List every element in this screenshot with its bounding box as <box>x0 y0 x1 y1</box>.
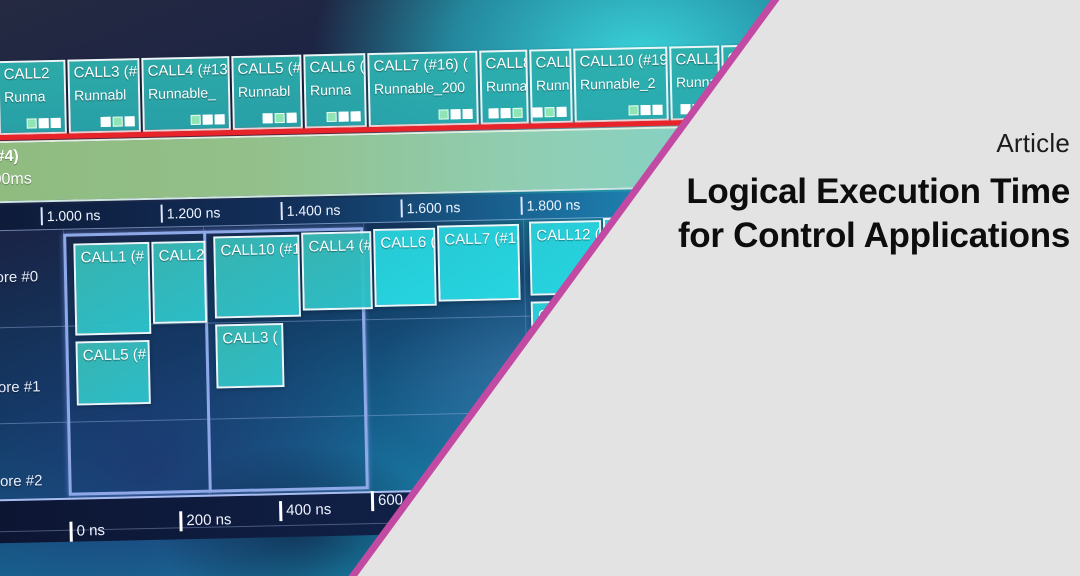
gantt-task-block[interactable]: CALL3 ( <box>215 323 284 388</box>
gantt-task-label: CALL5 (# <box>78 342 148 365</box>
indicator-square <box>101 117 111 127</box>
indicator-square <box>512 108 522 118</box>
indicator-square <box>532 107 542 117</box>
time-tick-label: 400 ns <box>279 500 331 521</box>
indicator-square <box>500 108 510 118</box>
indicator-square <box>51 118 61 128</box>
runnable-chip-indicators <box>191 114 225 125</box>
indicator-square <box>287 113 297 123</box>
indicator-square <box>125 116 135 126</box>
runnable-chip-indicators <box>27 118 61 129</box>
gantt-task-label: CALL10 (#1 <box>215 237 297 260</box>
time-tick-label: 600 ns <box>371 490 423 511</box>
runnable-chip-subtitle: Runnabl <box>234 77 300 100</box>
article-panel: Article Logical Execution Time for Contr… <box>560 0 1080 576</box>
indicator-square <box>339 112 349 122</box>
runnable-chip-indicators <box>488 108 522 119</box>
indicator-square <box>39 118 49 128</box>
runnable-chip-title: CALL5 (# <box>233 57 299 78</box>
gantt-task-block[interactable]: CALL1 (# <box>73 242 151 336</box>
runnable-chip-subtitle: Runna <box>0 82 64 105</box>
article-banner: CALL1 (#unnCALL2RunnaCALL3 (#RunnablCALL… <box>0 0 1080 576</box>
indicator-square <box>351 111 361 121</box>
core-row-label: ricore #0 <box>0 268 44 287</box>
gantt-task-block[interactable]: CALL5 (# <box>75 340 150 406</box>
runnable-chip[interactable]: CALL7 (#16) (Runnable_200 <box>367 51 479 127</box>
runnable-chip-indicators <box>439 109 473 120</box>
runnable-chip-subtitle: Runnabl <box>70 80 138 103</box>
runnable-chip[interactable]: CALL4 (#13Runnable_ <box>141 56 231 132</box>
time-tick-label: 1.200 ns <box>161 203 221 222</box>
runnable-chip-title: CALL8 <box>481 52 525 73</box>
core-row-label: ricore #1 <box>0 378 47 397</box>
runnable-chip[interactable]: CALL8Runna <box>479 50 529 125</box>
time-tick-label: 1.000 ns <box>41 206 101 225</box>
indicator-square <box>544 107 554 117</box>
runnable-chip-indicators <box>327 111 361 122</box>
indicator-square <box>439 109 449 119</box>
runnable-chip-subtitle: Runna <box>482 72 526 95</box>
indicator-square <box>191 115 201 125</box>
time-tick-label: 1.600 ns <box>400 198 460 217</box>
gantt-task-block[interactable]: CALL4 (#1 <box>301 231 373 311</box>
runnable-chip-title: CALL2 <box>0 62 64 83</box>
time-tick-label: 0 ns <box>69 521 105 542</box>
indicator-square <box>451 109 461 119</box>
runnable-chip-subtitle: Runnable_ <box>144 78 228 102</box>
gantt-task-label: CALL6 (# <box>375 230 433 252</box>
gantt-task-label: CALL3 ( <box>217 325 281 347</box>
indicator-square <box>203 115 213 125</box>
runnable-chip[interactable]: CALL2Runna <box>0 60 67 135</box>
runnable-chip-title: CALL7 (#16) ( <box>369 53 475 75</box>
indicator-square <box>488 108 498 118</box>
headline-line-1: Logical Execution Time <box>686 172 1070 211</box>
indicator-square <box>275 113 285 123</box>
runnable-chip[interactable]: CALL5 (#Runnabl <box>231 55 303 131</box>
page-title: Logical Execution Time for Control Appli… <box>570 170 1070 258</box>
runnable-chip-title: CALL3 (# <box>69 60 137 81</box>
gantt-task-label: CALL1 (# <box>75 244 147 267</box>
runnable-chip-title: CALL6 (# <box>305 55 363 76</box>
runnable-chip[interactable]: CALL3 (#Runnabl <box>67 58 141 134</box>
headline-line-2: for Control Applications <box>570 214 1070 258</box>
indicator-square <box>113 116 123 126</box>
runnable-chip-indicators <box>263 113 297 124</box>
gantt-task-block[interactable]: CALL7 (#16) <box>437 224 521 302</box>
gantt-task-block[interactable]: CALL6 (# <box>373 228 437 307</box>
indicator-square <box>27 118 37 128</box>
runnable-chip-subtitle: Runnable_200 <box>370 73 476 97</box>
article-kicker: Article <box>996 128 1070 159</box>
gantt-task-label: CALL2 <box>153 243 203 265</box>
indicator-square <box>263 113 273 123</box>
time-tick-label: 200 ns <box>179 510 231 531</box>
gantt-task-block[interactable]: CALL2 <box>151 241 207 324</box>
time-tick-label: 1.400 ns <box>280 201 340 220</box>
runnable-chip[interactable]: CALL6 (#Runna <box>303 53 367 128</box>
indicator-square <box>327 112 337 122</box>
runnable-chip-indicators <box>101 116 135 127</box>
runnable-chip-title: CALL4 (#13 <box>143 58 227 80</box>
runnable-chip-subtitle: Runna <box>306 75 364 98</box>
gantt-task-block[interactable]: CALL10 (#1 <box>213 235 301 319</box>
gantt-task-label: CALL4 (#1 <box>303 233 369 255</box>
core-row-label: ricore #2 <box>0 472 49 491</box>
indicator-square <box>462 109 472 119</box>
indicator-square <box>215 114 225 124</box>
gantt-task-label: CALL7 (#16) <box>439 226 517 249</box>
